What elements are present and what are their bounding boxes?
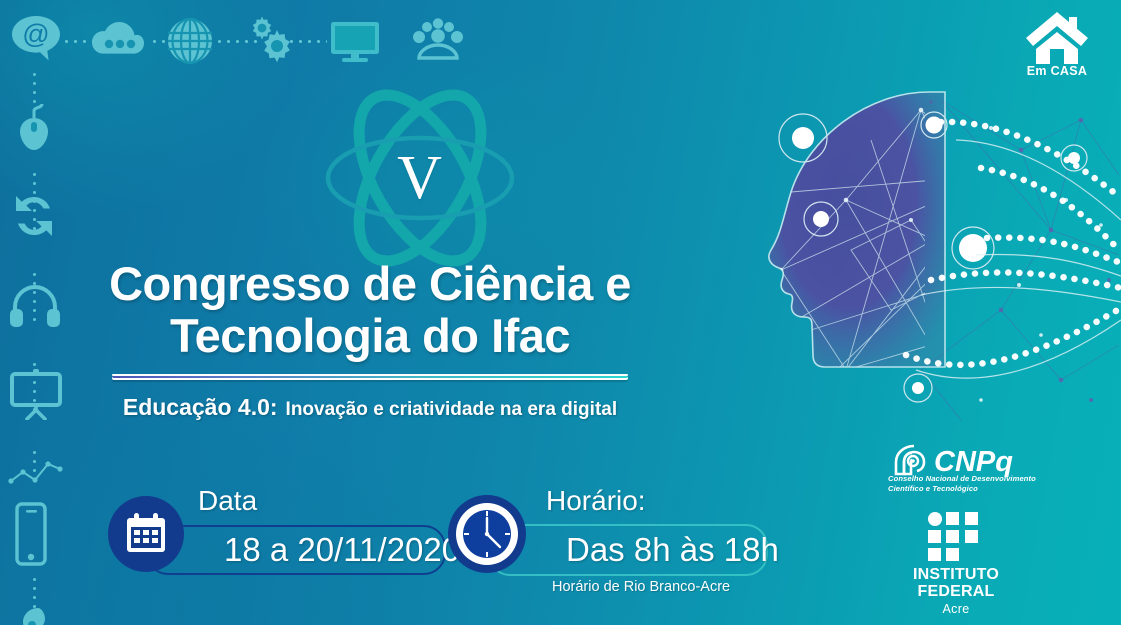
time-info-group: Horário: Das 8h às 18h Horário de Rio Br… bbox=[448, 489, 778, 589]
atom-edition-letter: V bbox=[315, 78, 525, 278]
cnpq-tagline: Conselho Nacional de Desenvolvimento Cie… bbox=[888, 474, 1048, 493]
date-info-group: Data 18 a 20/11/2020 bbox=[108, 489, 448, 579]
ifac-line2: FEDERAL bbox=[906, 584, 1006, 601]
title-block: Congresso de Ciência e Tecnologia do Ifa… bbox=[0, 258, 740, 421]
em-casa-badge: Em CASA bbox=[1011, 8, 1103, 88]
smartphone-icon bbox=[8, 502, 54, 573]
line-chart-icon bbox=[8, 458, 64, 493]
subtitle-rest: Inovação e criatividade na era digital bbox=[286, 399, 618, 420]
time-value: Das 8h às 18h bbox=[566, 531, 779, 569]
monitor-icon bbox=[327, 20, 383, 69]
ifac-line3: Acre bbox=[906, 602, 1006, 616]
at-sign-speech-bubble-icon: @ bbox=[8, 12, 64, 73]
atom-icon: V bbox=[315, 78, 525, 278]
clock-icon bbox=[448, 495, 526, 573]
refresh-sync-icon bbox=[8, 190, 60, 247]
house-icon bbox=[1011, 8, 1103, 66]
title-divider bbox=[112, 376, 628, 380]
svg-text:@: @ bbox=[22, 19, 49, 49]
subtitle: Educação 4.0:Inovação e criatividade na … bbox=[0, 394, 740, 421]
top-icon-rail: @ bbox=[0, 12, 470, 72]
em-casa-label: Em CASA bbox=[1011, 64, 1103, 78]
ifac-line1: INSTITUTO bbox=[906, 567, 1006, 584]
globe-icon bbox=[165, 16, 215, 71]
page-title-line1: Congresso de Ciência e bbox=[0, 258, 740, 310]
instituto-federal-logo: INSTITUTO FEDERAL Acre bbox=[906, 512, 1006, 616]
date-heading: Data bbox=[198, 485, 257, 517]
time-value-pill: Das 8h às 18h bbox=[488, 524, 768, 576]
date-value: 18 a 20/11/2020 bbox=[224, 531, 460, 569]
time-heading: Horário: bbox=[546, 485, 646, 517]
time-note: Horário de Rio Branco-Acre bbox=[552, 579, 730, 595]
cnpq-tagline-line2: Científico e Tecnológico bbox=[888, 484, 1048, 494]
ai-head-network-illustration bbox=[751, 80, 1121, 425]
date-value-pill: 18 a 20/11/2020 bbox=[146, 525, 446, 575]
calendar-icon bbox=[108, 496, 184, 572]
gears-icon bbox=[240, 12, 298, 73]
poster-canvas: @ bbox=[0, 0, 1121, 625]
people-group-icon bbox=[410, 18, 466, 67]
cnpq-tagline-line1: Conselho Nacional de Desenvolvimento bbox=[888, 474, 1048, 484]
headset-support-icon bbox=[8, 604, 56, 625]
page-title-line2: Tecnologia do Ifac bbox=[0, 310, 740, 362]
subtitle-strong: Educação 4.0: bbox=[123, 394, 278, 420]
cloud-icon bbox=[88, 18, 148, 69]
computer-mouse-icon bbox=[8, 102, 60, 169]
